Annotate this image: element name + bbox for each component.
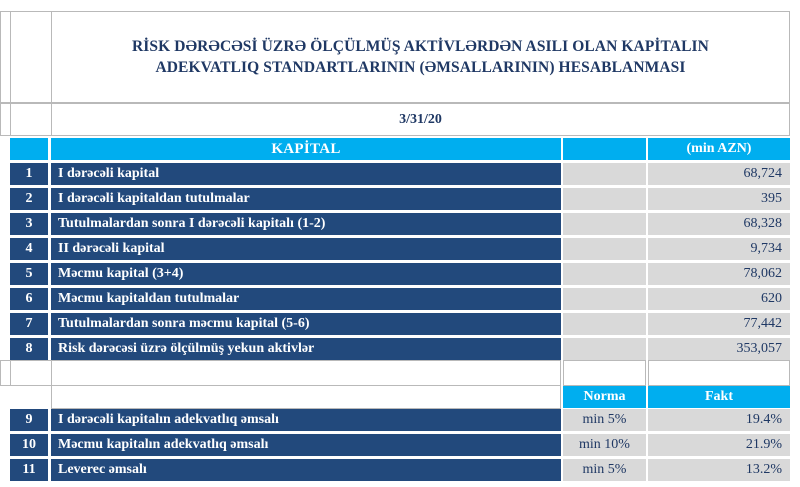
table-row-spacer: [563, 313, 646, 335]
grid-cell-number-date: [10, 103, 52, 136]
table-row-number: 7: [10, 313, 48, 335]
grid-cell-label-gap2: [51, 386, 561, 409]
table-row-spacer: [563, 213, 646, 235]
table-row-number: 9: [10, 409, 48, 431]
header-middle-cell: [563, 138, 646, 160]
table-row-number: 10: [10, 434, 48, 456]
grid-cell-label-gap: [51, 360, 561, 386]
grid-cell-mid-gap: [563, 360, 646, 386]
table-row-number: 5: [10, 263, 48, 285]
table-row-number: 6: [10, 288, 48, 310]
table-row-number: 4: [10, 238, 48, 260]
table-row-value: 9,734: [648, 238, 790, 260]
table-row-label: Məcmu kapitalın adekvatlıq əmsalı: [51, 434, 561, 456]
table-row-label: Risk dərəcəsi üzrə ölçülmüş yekun aktivl…: [51, 338, 561, 360]
table-row-number: 1: [10, 163, 48, 185]
table-row-value: 620: [648, 288, 790, 310]
header-number-cell: [10, 138, 48, 160]
grid-cell-number-top: [10, 11, 52, 103]
table-row-label: Tutulmalardan sonra I dərəcəli kapitalı …: [51, 213, 561, 235]
table-row-number: 3: [10, 213, 48, 235]
table-row-label: II dərəcəli kapital: [51, 238, 561, 260]
table-row-value: 353,057: [648, 338, 790, 360]
header-unit-label: (min AZN): [648, 138, 790, 160]
table-row-fakt: 21.9%: [648, 434, 790, 456]
table-row-label: I dərəcəli kapital: [51, 163, 561, 185]
header-fakt-label: Fakt: [648, 386, 790, 408]
table-row-label: Məcmu kapital (3+4): [51, 263, 561, 285]
table-row-spacer: [563, 288, 646, 310]
table-row-value: 68,328: [648, 213, 790, 235]
header-norma-label: Norma: [563, 386, 646, 408]
table-row-value: 78,062: [648, 263, 790, 285]
table-row-label: Məcmu kapitaldan tutulmalar: [51, 288, 561, 310]
table-row-fakt: 19.4%: [648, 409, 790, 431]
table-row-spacer: [563, 163, 646, 185]
table-row-value: 77,442: [648, 313, 790, 335]
page-title-line-1: RİSK DƏRƏCƏSİ ÜZRƏ ÖLÇÜLMÜŞ AKTİVLƏRDƏN …: [132, 36, 709, 57]
table-row-number: 8: [10, 338, 48, 360]
table-row-number: 2: [10, 188, 48, 210]
grid-cell-unit-gap: [648, 360, 790, 386]
table-row-label: I dərəcəli kapitaldan tutulmalar: [51, 188, 561, 210]
report-date: 3/31/20: [51, 103, 790, 136]
table-row-value: 395: [648, 188, 790, 210]
table-row-norma: min 5%: [563, 459, 646, 481]
table-row-number: 11: [10, 459, 48, 481]
table-row-label: Tutulmalardan sonra məcmu kapital (5-6): [51, 313, 561, 335]
spreadsheet-canvas: RİSK DƏRƏCƏSİ ÜZRƏ ÖLÇÜLMÜŞ AKTİVLƏRDƏN …: [0, 0, 800, 487]
table-row-fakt: 13.2%: [648, 459, 790, 481]
table-row-spacer: [563, 338, 646, 360]
table-row-spacer: [563, 238, 646, 260]
table-row-label: Leverec əmsalı: [51, 459, 561, 481]
table-row-norma: min 10%: [563, 434, 646, 456]
table-row-norma: min 5%: [563, 409, 646, 431]
page-title: RİSK DƏRƏCƏSİ ÜZRƏ ÖLÇÜLMÜŞ AKTİVLƏRDƏN …: [51, 11, 790, 103]
header-capital-label: KAPİTAL: [51, 138, 561, 160]
grid-cell-number-gap: [10, 360, 52, 386]
table-row-spacer: [563, 263, 646, 285]
table-row-value: 68,724: [648, 163, 790, 185]
table-row-label: I dərəcəli kapitalın adekvatlıq əmsalı: [51, 409, 561, 431]
page-title-line-2: ADEKVATLIQ STANDARTLARININ (ƏMSALLARININ…: [155, 57, 685, 78]
table-row-spacer: [563, 188, 646, 210]
